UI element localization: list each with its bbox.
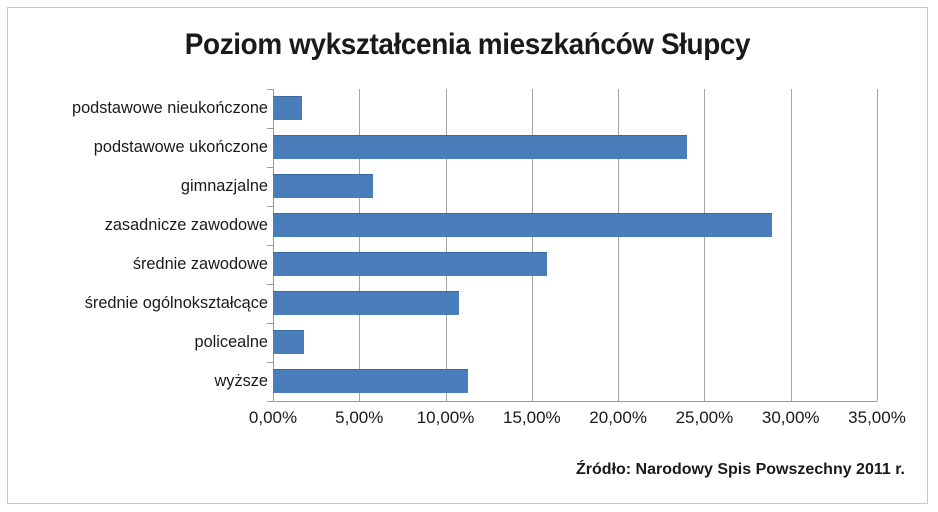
y-axis-tick — [267, 284, 273, 285]
category-label: podstawowe nieukończone — [28, 98, 268, 118]
category-label: wyższe — [28, 371, 268, 391]
bar — [273, 291, 459, 315]
category-label: zasadnicze zawodowe — [28, 215, 268, 235]
y-axis-tick — [267, 401, 273, 402]
bar-row — [273, 128, 877, 167]
bar — [273, 252, 547, 276]
y-axis-tick — [267, 323, 273, 324]
category-label: policealne — [28, 332, 268, 352]
chart-frame: Poziom wykształcenia mieszkańców Słupcy … — [7, 7, 928, 504]
bar-row — [273, 89, 877, 128]
category-label: średnie ogólnokształcące — [28, 293, 268, 313]
category-label: gimnazjalne — [28, 176, 268, 196]
bar — [273, 213, 772, 237]
y-axis-tick — [267, 362, 273, 363]
y-axis-category-labels: podstawowe nieukończonepodstawowe ukończ… — [13, 89, 268, 401]
bar-row — [273, 284, 877, 323]
chart-title: Poziom wykształcenia mieszkańców Słupcy — [40, 28, 895, 62]
x-axis-tick-labels: 0,00%5,00%10,00%15,00%20,00%25,00%30,00%… — [273, 408, 877, 438]
category-label: średnie zawodowe — [28, 254, 268, 274]
y-axis-tick — [267, 245, 273, 246]
bar-row — [273, 245, 877, 284]
bar — [273, 369, 468, 393]
y-axis-tick — [267, 89, 273, 90]
bar-row — [273, 206, 877, 245]
y-axis-tick — [267, 167, 273, 168]
x-axis-line — [273, 401, 877, 402]
category-label: podstawowe ukończone — [28, 137, 268, 157]
bar-row — [273, 167, 877, 206]
bar-row — [273, 362, 877, 401]
bar — [273, 174, 373, 198]
bar — [273, 330, 304, 354]
bar — [273, 135, 687, 159]
y-axis-tick — [267, 206, 273, 207]
bar-row — [273, 323, 877, 362]
gridline — [877, 89, 878, 401]
plot-area — [273, 89, 877, 401]
bar — [273, 96, 302, 120]
source-note: Źródło: Narodowy Spis Powszechny 2011 r. — [576, 461, 905, 479]
y-axis-tick — [267, 128, 273, 129]
x-tick-label: 35,00% — [822, 408, 932, 428]
